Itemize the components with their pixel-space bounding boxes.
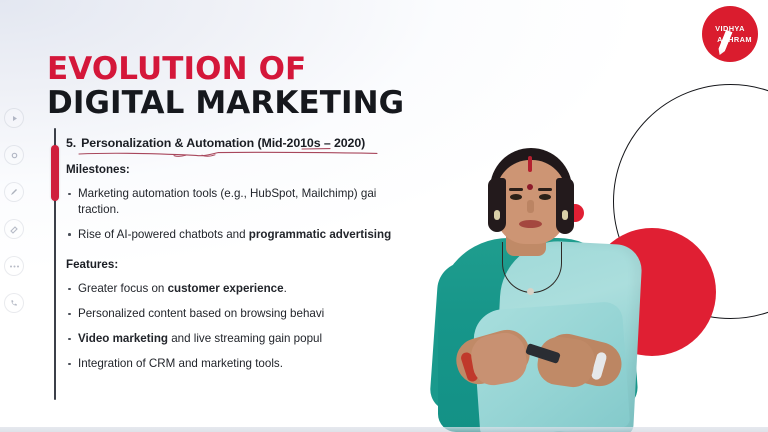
- milestone-1-line-1: Marketing automation tools (e.g., HubSpo…: [78, 187, 376, 200]
- title-line-1: EVOLUTION OF: [47, 52, 404, 86]
- presenter-earring-right: [562, 210, 568, 220]
- slide-canvas: VIDHYA ASHRAM EVOLUTION OF DIGITAL MARKE…: [0, 0, 768, 432]
- brand-logo: VIDHYA ASHRAM: [702, 6, 758, 62]
- presenter-nose: [527, 200, 534, 213]
- scrollbar-thumb[interactable]: [51, 145, 59, 201]
- presenter-hair-left: [488, 178, 506, 232]
- feature-3-bold: Video marketing: [78, 332, 168, 345]
- section-heading-text: Personalization & Automation (Mid-2010s …: [81, 136, 365, 150]
- presenter-eye-left: [510, 194, 522, 200]
- title-line-2: DIGITAL MARKETING: [47, 86, 404, 121]
- feature-1-lead: Greater focus on: [78, 282, 168, 295]
- page-title: EVOLUTION OF DIGITAL MARKETING: [47, 52, 404, 121]
- phone-icon[interactable]: [4, 293, 24, 313]
- feature-4-lead: Integration of CRM and marketing tools.: [78, 357, 283, 370]
- presenter-eyebrow-right: [538, 188, 552, 191]
- section-number: 5.: [66, 136, 76, 150]
- feature-2-lead: Personalized content based on browsing b…: [78, 307, 324, 320]
- presenter-mouth: [519, 220, 542, 228]
- presenter-pendant: [527, 288, 534, 295]
- annotation-toolbar: [4, 108, 24, 313]
- play-icon[interactable]: [4, 108, 24, 128]
- eraser-icon[interactable]: [4, 219, 24, 239]
- feature-1-bold: customer experience: [168, 282, 284, 295]
- presenter-earring-left: [494, 210, 500, 220]
- milestone-2-lead: Rise of AI-powered chatbots and: [78, 228, 249, 241]
- presenter-hair-right: [556, 178, 574, 234]
- bottom-edge-band: [0, 427, 768, 432]
- pen-icon[interactable]: [4, 182, 24, 202]
- presenter-sindoor: [528, 156, 532, 172]
- presenter-eyebrow-left: [509, 188, 523, 191]
- presenter-eye-right: [539, 194, 551, 200]
- feature-1-tail: .: [284, 282, 287, 295]
- milestone-1-line-2: traction.: [78, 203, 119, 216]
- record-icon[interactable]: [4, 145, 24, 165]
- presenter-bindi: [527, 184, 533, 190]
- more-options-icon[interactable]: [4, 256, 24, 276]
- presenter-video-overlay: [398, 138, 666, 432]
- milestone-2-bold: programmatic advertising: [249, 228, 391, 241]
- feature-3-tail: and live streaming gain popul: [168, 332, 322, 345]
